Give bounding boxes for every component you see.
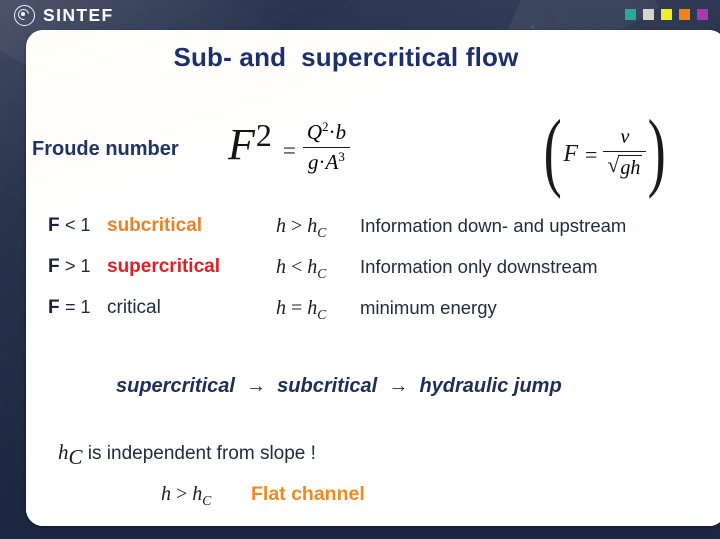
condition-description: Information down- and upstream [360,215,626,237]
square-root-expression: √ gh [607,155,642,181]
card-surface: Sub- and supercritical flow Froude numbe… [26,30,720,526]
condition-symbol-F: F [48,215,60,237]
froude-alt-equation: ( F = v √ gh ) [538,122,672,182]
condition-regime-word: supercritical [107,256,220,278]
paren-open: ( [544,122,562,182]
fraction-numerator: Q2·b [303,120,350,145]
swatch-yellow [661,9,672,20]
condition-depth-expression: h = hC [276,297,326,323]
equation-exponent-2: 2 [256,117,272,154]
alt-equation-equals: = [585,142,597,168]
swatch-purple [697,9,708,20]
swatch-orange [679,9,690,20]
condition-description: Information only downstream [360,256,598,278]
slide-canvas: SINTEF Sub- and supercritical flow Froud… [0,0,720,539]
condition-row: F = 1 critical h = hC minimum energy [48,297,720,323]
fraction-bar [303,147,350,149]
slide-header: SINTEF [0,0,720,30]
note-symbol-h: h [58,440,69,464]
condition-symbol-F: F [48,297,60,319]
flow-transition-line: supercritical → subcritical → hydraulic … [116,375,562,398]
alt-equation-body: F = v √ gh [563,122,646,181]
sintef-logo[interactable]: SINTEF [14,5,114,26]
condition-depth-expression: h < hC [276,256,326,282]
channel-depth-expression: h < hC [161,524,211,526]
sintef-logo-text: SINTEF [43,7,114,25]
froude-number-label: Froude number [32,138,179,161]
alt-equation-fraction: v √ gh [603,126,646,181]
note-subscript: C [69,445,83,469]
independence-note: hC is independent from slope ! [58,440,316,470]
condition-description: minimum energy [360,297,497,319]
page-title: Sub- and supercritical flow [26,42,666,73]
condition-symbol-F: F [48,256,60,278]
fraction-denominator: g·A3 [304,150,349,175]
sintef-spiral-logo-icon [14,5,35,26]
equation-equals: = [283,138,296,164]
condition-depth-expression: h > hC [276,215,326,241]
alt-fraction-denominator: √ gh [603,154,646,181]
condition-row: F > 1 supercritical h < hC Information o… [48,256,720,282]
swatch-grey [643,9,654,20]
alt-fraction-numerator: v [616,126,633,148]
condition-regime-word: critical [107,297,161,319]
channel-depth-expression: h > hC [161,483,211,509]
sqrt-radicand: gh [618,155,642,181]
condition-regime-word: subcritical [107,215,202,237]
condition-relation: = 1 [65,297,91,318]
swatch-teal [625,9,636,20]
color-swatch-row [625,9,708,20]
channel-label: Flat channel [251,483,365,506]
condition-relation: < 1 [65,215,91,236]
paren-close: ) [648,122,666,182]
condition-row: F < 1 subcritical h > hC Information dow… [48,215,720,241]
channel-label: Steep channel [251,524,383,526]
alt-equation-symbol-F: F [563,141,578,168]
equation-fraction: Q2·b g·A3 [303,120,350,175]
slide-content-card: Sub- and supercritical flow Froude numbe… [26,30,720,526]
note-text: is independent from slope ! [83,443,316,464]
sqrt-icon: √ [607,154,619,176]
condition-relation: > 1 [65,256,91,277]
froude-equation: F 2 = Q2·b g·A3 [228,112,350,175]
equation-symbol-F: F [228,123,255,167]
